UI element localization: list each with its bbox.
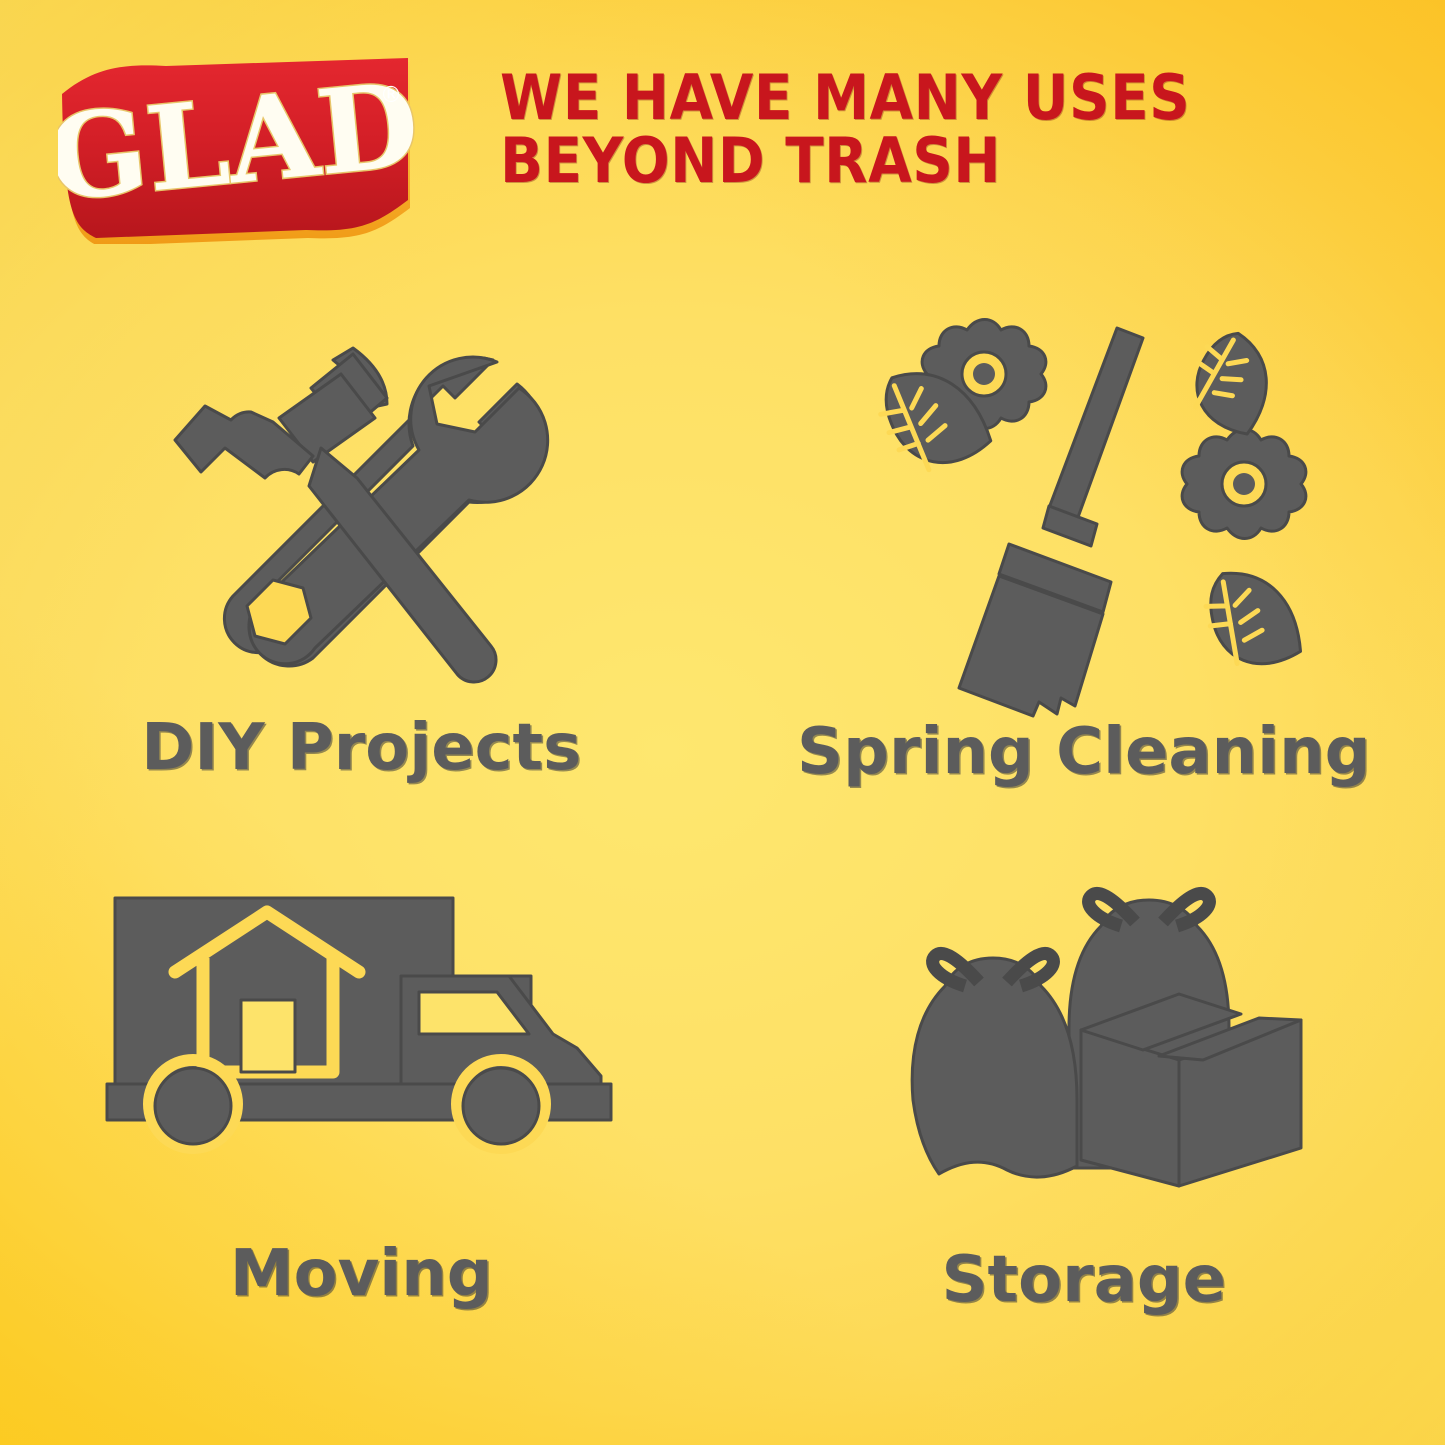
trash-bag-front	[912, 954, 1077, 1178]
registered-trademark-icon: ®	[380, 83, 402, 108]
use-case-tile-moving: Moving	[0, 860, 723, 1420]
flower-icon-2	[1182, 430, 1306, 539]
use-case-grid: DIY Projects	[0, 300, 1445, 1420]
use-case-tile-storage: Storage	[723, 860, 1445, 1420]
leaf-icon-3	[1196, 557, 1305, 678]
broom-flowers-leaves-icon	[849, 318, 1319, 718]
leaf-icon-2	[1179, 324, 1284, 438]
promo-image-root: GLAD ® WE HAVE MANY USES BEYOND TRASH	[0, 0, 1445, 1445]
headline-line-2: BEYOND TRASH	[500, 129, 1246, 192]
moving-truck-icon	[101, 888, 621, 1188]
hammer-wrench-icon	[161, 344, 561, 704]
tile-label-storage: Storage	[941, 1248, 1226, 1312]
use-case-tile-diy: DIY Projects	[0, 300, 723, 860]
glad-logo: GLAD ®	[58, 58, 416, 244]
use-case-tile-spring-cleaning: Spring Cleaning	[723, 300, 1445, 860]
headline: WE HAVE MANY USES BEYOND TRASH	[500, 66, 1246, 192]
trash-bags-box-icon	[849, 864, 1319, 1204]
tile-label-spring-cleaning: Spring Cleaning	[797, 720, 1370, 784]
headline-line-1: WE HAVE MANY USES	[500, 61, 1190, 134]
cardboard-box-icon	[1081, 994, 1301, 1186]
house-door	[241, 1000, 295, 1072]
broom-head	[959, 506, 1111, 716]
tile-label-moving: Moving	[230, 1242, 493, 1306]
broom-handle	[1049, 328, 1143, 520]
tile-label-diy: DIY Projects	[141, 716, 581, 780]
